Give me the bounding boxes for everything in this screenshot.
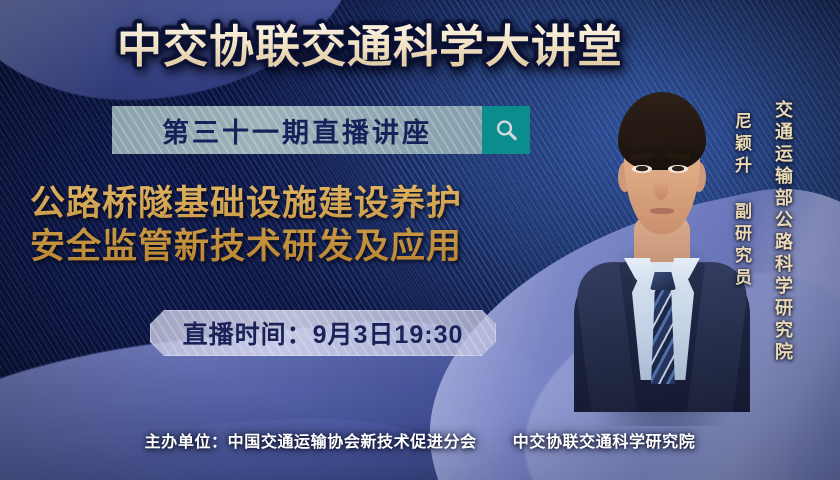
portrait-eye-left [632, 165, 652, 173]
portrait-nose [654, 174, 668, 200]
footer-organizer: 主办单位：中国交通运输协会新技术促进分会 [145, 434, 477, 451]
footer-institute: 中交协联交通科学研究院 [513, 434, 696, 451]
poster-main-title: 中交协联交通科学大讲堂 [0, 18, 740, 76]
poster-topic: 公路桥隧基础设施建设养护 安全监管新技术研发及应用 [30, 182, 582, 268]
episode-bar: 第三十一期直播讲座 [112, 106, 482, 154]
portrait-mouth [650, 208, 674, 214]
speaker-portrait [578, 66, 744, 396]
topic-line-1: 公路桥隧基础设施建设养护 [30, 182, 582, 225]
live-time-text: 直播时间：9月3日19:30 [183, 315, 464, 351]
live-stream-poster: 中交协联交通科学大讲堂 第三十一期直播讲座 公路桥隧基础设施建设养护 安全监管新… [0, 0, 840, 480]
topic-line-2: 安全监管新技术研发及应用 [30, 225, 582, 268]
episode-banner: 第三十一期直播讲座 [112, 106, 530, 154]
poster-footer: 主办单位：中国交通运输协会新技术促进分会 中交协联交通科学研究院 [0, 428, 840, 452]
portrait-eye-right [668, 165, 688, 173]
search-icon-box[interactable] [482, 106, 530, 154]
episode-label: 第三十一期直播讲座 [162, 111, 432, 150]
speaker-name-title: 尼颖升 副研究员 [729, 112, 754, 290]
search-icon [493, 117, 520, 144]
speaker-organization: 交通运输部公路科学研究院 [770, 100, 796, 364]
live-time-badge: 直播时间：9月3日19:30 [150, 310, 496, 356]
